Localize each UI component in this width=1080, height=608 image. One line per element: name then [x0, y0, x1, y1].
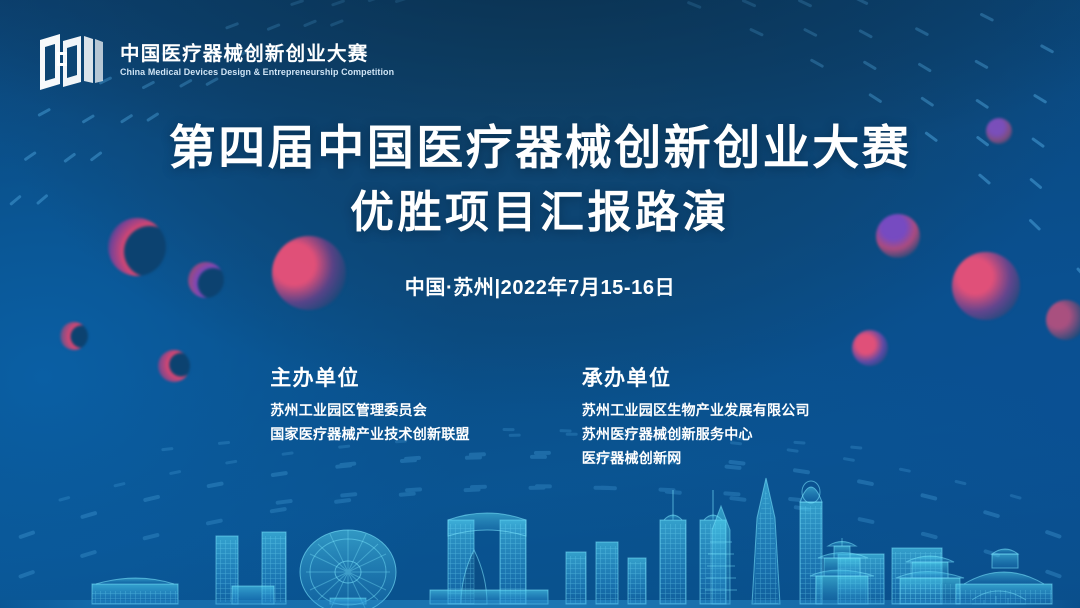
event-poster: 中国医疗器械创新创业大赛 China Medical Devices Desig… — [0, 0, 1080, 608]
organizer-entry: 苏州工业园区管理委员会 — [270, 398, 470, 422]
logo-name-cn: 中国医疗器械创新创业大赛 — [120, 45, 403, 65]
poster-headline: 第四届中国医疗器械创新创业大赛 优胜项目汇报路演 中国·苏州|2022年7月15… — [0, 122, 1080, 300]
organizer-heading: 承办单位 — [582, 366, 810, 391]
competition-logo: 中国医疗器械创新创业大赛 China Medical Devices Desig… — [36, 26, 403, 96]
page-subtitle: 优胜项目汇报路演 — [0, 188, 1080, 237]
organizer-column-coorganizer: 承办单位 苏州工业园区生物产业发展有限公司 苏州医疗器械创新服务中心 医疗器械创… — [582, 366, 810, 470]
skyline-baseline — [0, 600, 1080, 608]
organizer-heading: 主办单位 — [270, 366, 470, 391]
suzhou-city-skyline — [0, 458, 1080, 608]
organizer-entry: 苏州工业园区生物产业发展有限公司 — [582, 398, 810, 422]
organizer-column-host: 主办单位 苏州工业园区管理委员会 国家医疗器械产业技术创新联盟 — [270, 366, 470, 470]
organizer-entry: 国家医疗器械产业技术创新联盟 — [270, 422, 470, 446]
location-date: 中国·苏州|2022年7月15-16日 — [0, 271, 1080, 300]
logo-name-en: China Medical Devices Design & Entrepren… — [120, 68, 394, 77]
open-door-window-logo-icon — [36, 26, 106, 96]
organizers-section: 主办单位 苏州工业园区管理委员会 国家医疗器械产业技术创新联盟 承办单位 苏州工… — [0, 366, 1080, 470]
page-title: 第四届中国医疗器械创新创业大赛 — [0, 122, 1080, 175]
organizer-entry: 苏州医疗器械创新服务中心 — [582, 422, 810, 446]
organizer-entry: 医疗器械创新网 — [582, 446, 810, 470]
